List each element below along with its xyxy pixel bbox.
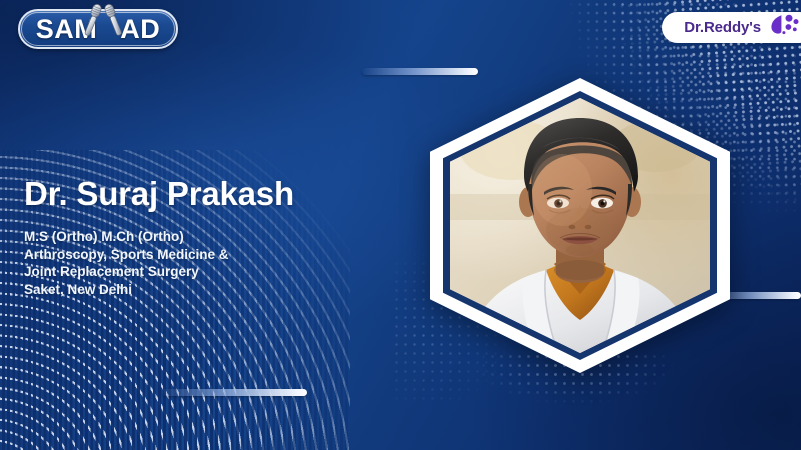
teardrop-dots-icon	[769, 14, 799, 41]
accent-bar-bottom	[162, 389, 307, 396]
samvad-logo-text-right: AD	[120, 14, 160, 45]
speaker-name: Dr. Suraj Prakash	[24, 175, 294, 213]
credential-line: Joint Replacement Surgery	[24, 263, 229, 281]
speaker-credentials: M.S (Ortho) M.Ch (Ortho) Arthroscopy, Sp…	[24, 228, 229, 298]
credential-line: M.S (Ortho) M.Ch (Ortho)	[24, 228, 229, 246]
credential-line: Saket, New Delhi	[24, 281, 229, 299]
dr-reddys-logo-text: Dr.Reddy's	[684, 19, 761, 36]
samvad-logo[interactable]: SAM AD	[18, 9, 178, 49]
crossed-microphones-icon	[80, 1, 126, 47]
dr-reddys-logo[interactable]: Dr.Reddy's	[662, 12, 801, 43]
accent-bar-top	[362, 68, 478, 75]
speaker-portrait-frame	[430, 78, 730, 373]
credential-line: Arthroscopy, Sports Medicine &	[24, 246, 229, 264]
promo-banner: SAM AD	[0, 0, 801, 450]
